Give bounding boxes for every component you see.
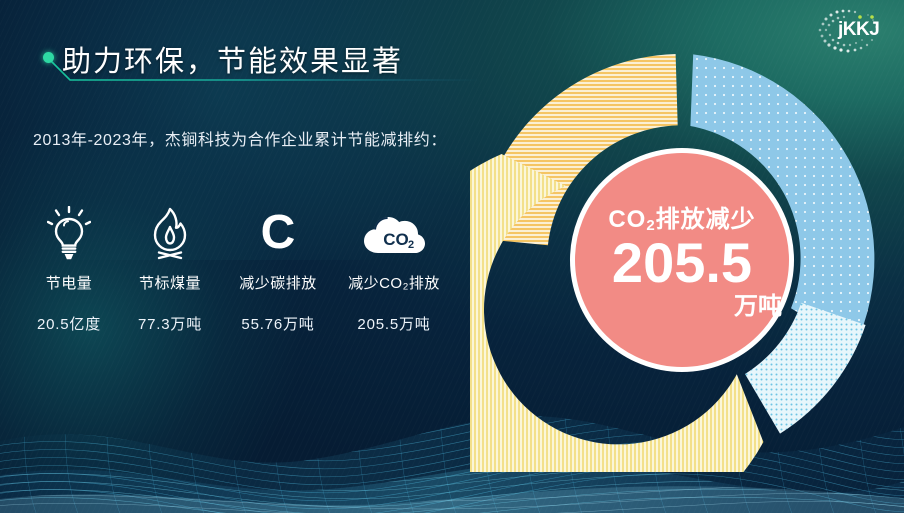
page-title-block: 助力环保，节能效果显著: [40, 40, 510, 100]
intro-paragraph: 2013年-2023年，杰锏科技为合作企业累计节能减排约：: [33, 126, 483, 155]
stat-item-coal-saved: 节标煤量 77.3万吨: [118, 202, 222, 334]
stat-label: 节电量: [20, 272, 118, 293]
brand-logo-text: jKKJ: [838, 19, 879, 41]
stat-item-carbon-reduced: C 减少碳排放 55.76万吨: [222, 202, 334, 334]
svg-text:2: 2: [408, 239, 414, 251]
stats-row: 节电量 20.5亿度 节标煤量 77.3万吨 C 减少碳排放 55.76万吨: [20, 202, 490, 334]
flame-icon: [118, 202, 222, 264]
donut-center-text: CO2排放减少 205.5 万吨: [570, 148, 794, 372]
stat-label: 减少CO₂排放: [334, 272, 454, 293]
stat-value: 55.76万吨: [222, 313, 334, 334]
slide-root: 助力环保，节能效果显著 2013年-2023年，杰锏科技为合作企业累计节能减排约…: [0, 0, 904, 513]
lightbulb-icon: [20, 202, 118, 264]
stat-label: 减少碳排放: [222, 272, 334, 293]
donut-unit: 万吨: [734, 286, 782, 321]
stat-item-co2-reduced: CO 2 减少CO₂排放 205.5万吨: [334, 202, 454, 334]
stat-item-power-saved: 节电量 20.5亿度: [20, 202, 118, 334]
donut-caption: CO2排放减少: [608, 199, 755, 234]
donut-value: 205.5: [612, 236, 752, 291]
stat-label: 节标煤量: [118, 272, 222, 293]
donut-caption-rest: 排放减少: [656, 206, 756, 233]
stat-value: 205.5万吨: [334, 313, 454, 334]
co2-cloud-icon: CO 2: [334, 202, 454, 264]
stat-value: 77.3万吨: [118, 313, 222, 334]
title-bullet-dot-icon: [43, 52, 54, 63]
stat-value: 20.5亿度: [20, 313, 118, 334]
donut-caption-subscript: 2: [646, 217, 655, 234]
donut-chart: CO2排放减少 205.5 万吨: [470, 48, 894, 472]
carbon-letter: C: [261, 209, 296, 257]
svg-text:CO: CO: [383, 230, 409, 249]
carbon-c-icon: C: [222, 202, 334, 264]
donut-caption-co: CO: [608, 206, 646, 233]
page-title: 助力环保，节能效果显著: [62, 38, 403, 80]
brand-logo[interactable]: jKKJ: [812, 6, 890, 56]
